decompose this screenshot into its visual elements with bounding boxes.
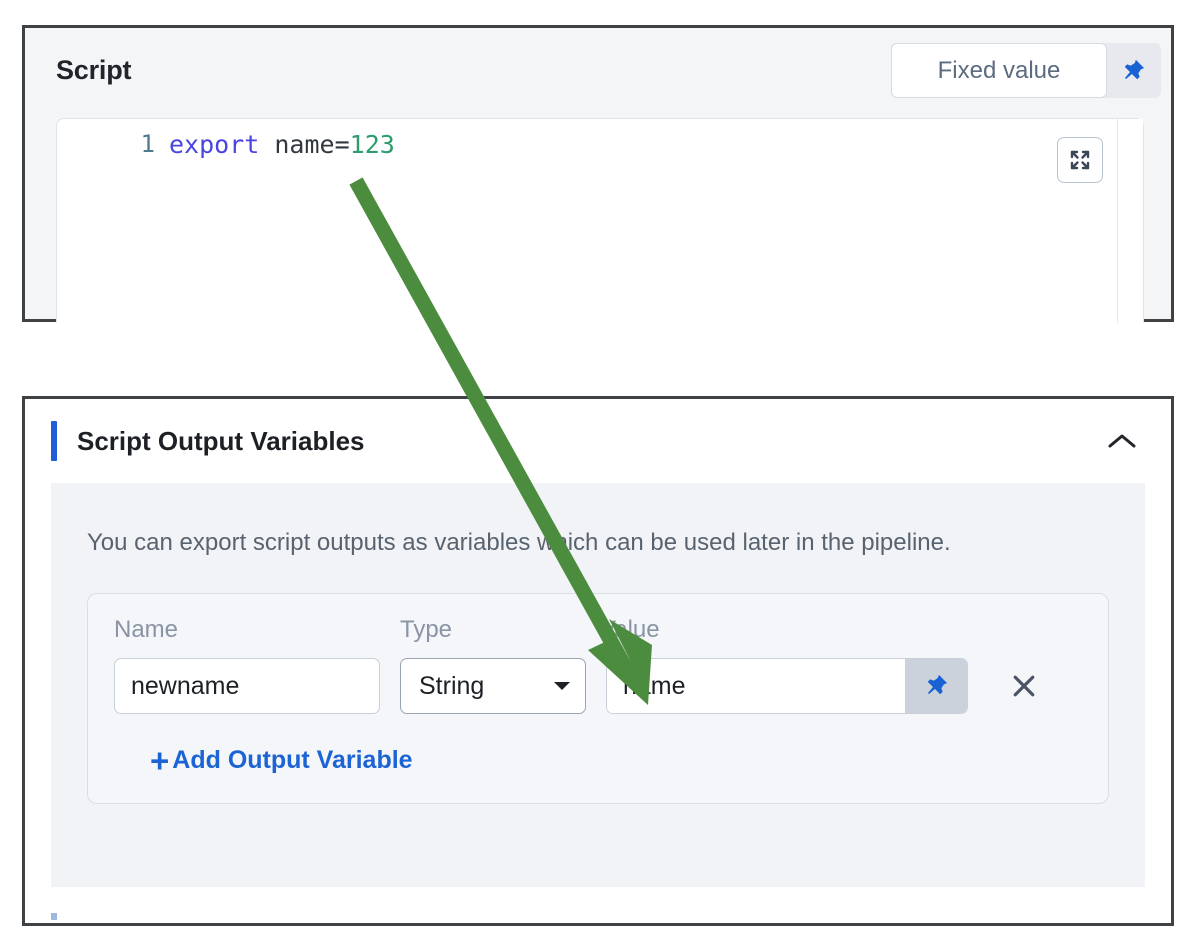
close-icon-glyph	[1009, 671, 1039, 701]
variable-type-select[interactable]: String	[400, 658, 586, 714]
script-panel-header: Script Fixed value	[25, 28, 1171, 113]
table-row: newname String name	[114, 658, 1082, 714]
expand-icon-glyph	[1068, 148, 1092, 172]
script-output-variables-header[interactable]: Script Output Variables	[25, 399, 1171, 483]
pin-icon[interactable]	[905, 659, 967, 713]
pin-icon-glyph	[1119, 57, 1147, 85]
close-icon[interactable]	[1002, 664, 1046, 708]
pin-icon[interactable]	[1107, 43, 1159, 98]
code-editor[interactable]: 1 export name= 123	[56, 118, 1144, 323]
code-token-space	[259, 130, 274, 159]
editor-scrollbar[interactable]	[1117, 119, 1143, 323]
chevron-up-icon[interactable]	[1107, 426, 1137, 456]
code-token-variable: name=	[274, 130, 349, 159]
column-header-type: Type	[400, 616, 600, 644]
variable-value-field[interactable]: name	[606, 658, 968, 714]
code-editor-body[interactable]: 1 export name= 123	[57, 119, 1117, 323]
expand-icon[interactable]	[1057, 137, 1103, 183]
column-header-name: Name	[114, 616, 400, 644]
column-header-value: Value	[600, 616, 800, 644]
variable-name-input[interactable]: newname	[114, 658, 380, 714]
section-accent-bar	[51, 421, 57, 461]
plus-icon: +	[150, 744, 169, 777]
next-section-accent-stub	[51, 913, 57, 920]
line-number: 1	[57, 130, 169, 158]
section-title: Script Output Variables	[77, 426, 365, 457]
variable-value-input[interactable]: name	[607, 659, 905, 713]
output-variables-card: Name Type Value newname String name	[87, 593, 1109, 804]
add-output-variable-button[interactable]: + Add Output Variable	[150, 744, 1082, 777]
script-panel: Script Fixed value 1 export name= 123	[22, 25, 1174, 322]
chevron-down-icon	[553, 680, 571, 692]
add-output-variable-label: Add Output Variable	[172, 746, 412, 775]
column-headers: Name Type Value	[114, 616, 1082, 644]
code-token-number: 123	[350, 130, 395, 159]
script-output-variables-body: You can export script outputs as variabl…	[51, 483, 1145, 887]
code-line-1: 1 export name= 123	[57, 119, 1117, 155]
pin-icon-glyph	[922, 672, 950, 700]
chevron-up-icon-glyph	[1107, 432, 1137, 450]
fixed-value-button[interactable]: Fixed value	[891, 43, 1107, 98]
section-description: You can export script outputs as variabl…	[87, 529, 1109, 557]
value-mode-group: Fixed value	[891, 43, 1161, 98]
script-output-variables-panel: Script Output Variables You can export s…	[22, 396, 1174, 926]
variable-type-value: String	[419, 672, 484, 701]
page-title: Script	[56, 55, 131, 86]
code-token-keyword: export	[169, 130, 259, 159]
